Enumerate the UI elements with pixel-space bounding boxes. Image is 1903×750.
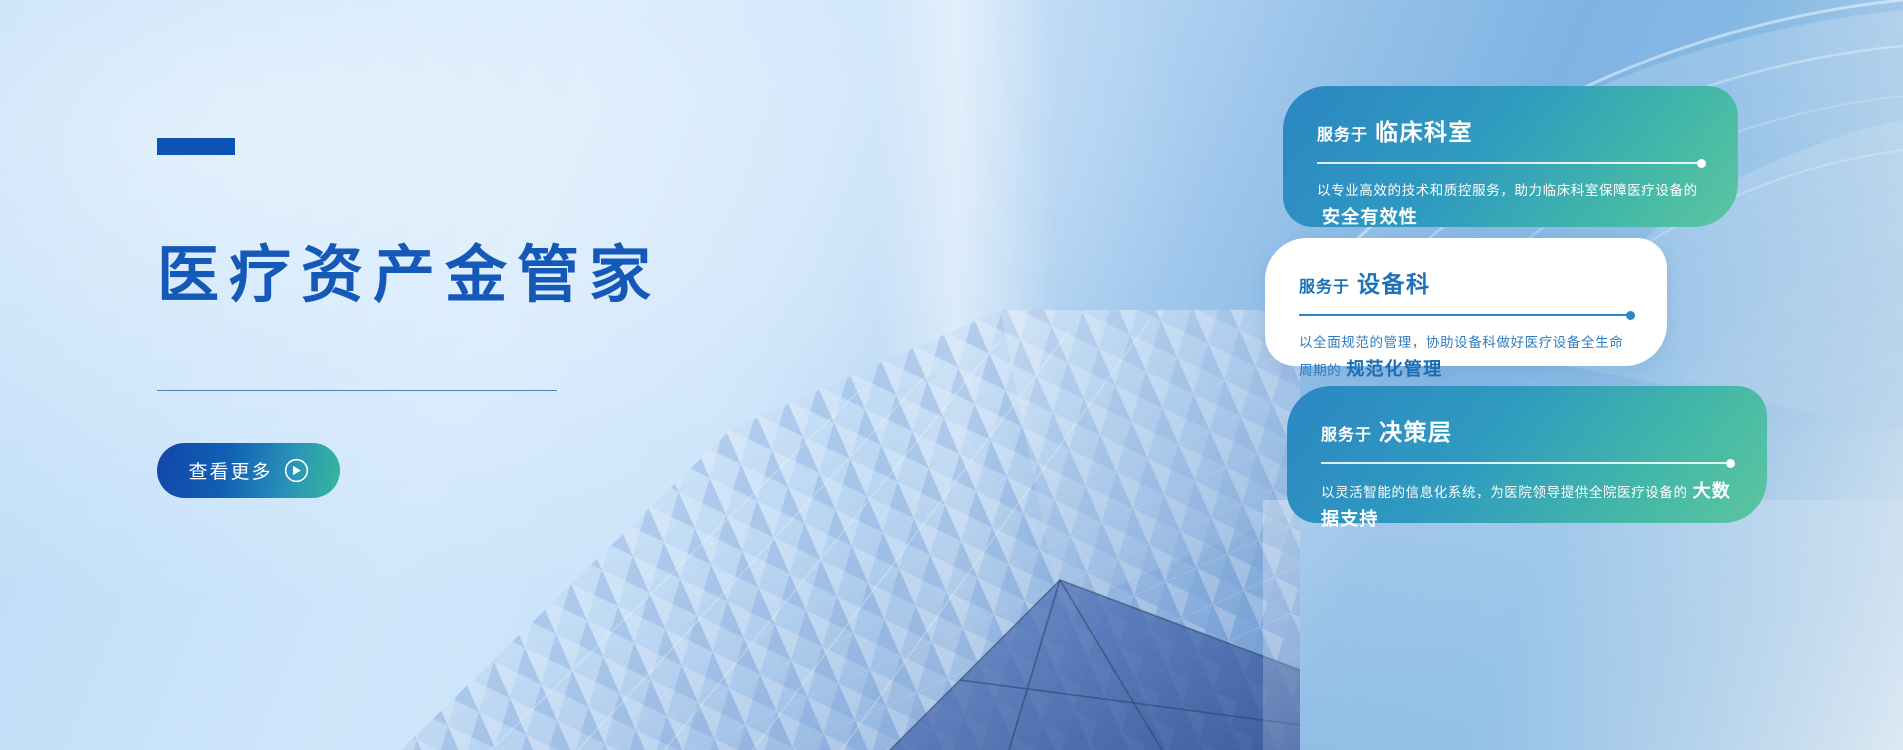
card-body-text: 以专业高效的技术和质控服务，助力临床科室保障医疗设备的 [1317, 183, 1698, 198]
card-key-label: 临床科室 [1375, 119, 1473, 145]
page-title: 医疗资产金管家 [157, 243, 661, 310]
hero-left-content: 医疗资产金管家 查看更多 [157, 0, 777, 750]
card-rule-line [1317, 162, 1698, 164]
card-body: 以全面规范的管理，协助设备科做好医疗设备全生命周期的规范化管理 [1299, 330, 1635, 384]
hero-banner: 医疗资产金管家 查看更多 服务于临床科室 以专业高效的技术和质控服务，助力临床科… [0, 0, 1903, 750]
card-rule [1299, 311, 1635, 319]
feature-card-equipment-department[interactable]: 服务于设备科 以全面规范的管理，协助设备科做好医疗设备全生命周期的规范化管理 [1265, 238, 1667, 366]
card-rule-dot-icon [1697, 159, 1706, 168]
card-rule-line [1321, 462, 1727, 464]
card-body-text: 以灵活智能的信息化系统，为医院领导提供全院医疗设备的 [1321, 485, 1688, 500]
feature-card-list: 服务于临床科室 以专业高效的技术和质控服务，助力临床科室保障医疗设备的安全有效性… [1283, 0, 1903, 750]
card-body-highlight: 规范化管理 [1346, 359, 1442, 379]
card-lead-label: 服务于 [1321, 427, 1372, 444]
view-more-button[interactable]: 查看更多 [157, 443, 340, 498]
card-body-highlight: 安全有效性 [1322, 207, 1418, 227]
card-title: 服务于设备科 [1299, 265, 1635, 299]
card-rule-dot-icon [1726, 459, 1735, 468]
card-rule-line [1299, 314, 1627, 316]
circle-arrow-right-icon [284, 458, 309, 483]
card-rule-dot-icon [1626, 311, 1635, 320]
card-key-label: 决策层 [1379, 419, 1453, 445]
accent-dash-mark [157, 138, 235, 155]
feature-card-clinical-department[interactable]: 服务于临床科室 以专业高效的技术和质控服务，助力临床科室保障医疗设备的安全有效性 [1283, 86, 1738, 227]
view-more-label: 查看更多 [188, 457, 272, 484]
card-rule [1317, 159, 1706, 167]
card-key-label: 设备科 [1357, 271, 1431, 297]
card-body: 以灵活智能的信息化系统，为医院领导提供全院医疗设备的大数据支持 [1321, 478, 1735, 534]
feature-card-decision-layer[interactable]: 服务于决策层 以灵活智能的信息化系统，为医院领导提供全院医疗设备的大数据支持 [1287, 386, 1767, 523]
card-title: 服务于临床科室 [1317, 113, 1706, 147]
card-rule [1321, 459, 1735, 467]
card-body: 以专业高效的技术和质控服务，助力临床科室保障医疗设备的安全有效性 [1317, 178, 1706, 232]
card-title: 服务于决策层 [1321, 413, 1735, 447]
hero-divider [157, 390, 557, 391]
card-lead-label: 服务于 [1317, 127, 1368, 144]
card-lead-label: 服务于 [1299, 279, 1350, 296]
